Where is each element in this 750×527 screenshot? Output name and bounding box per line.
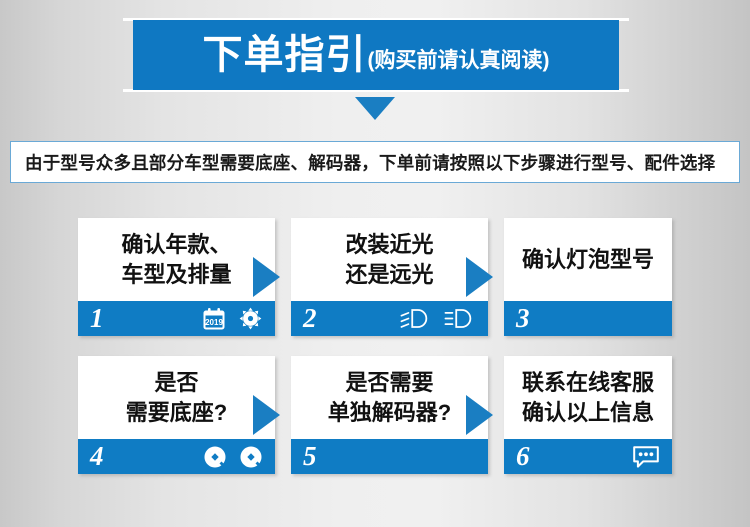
step-card-5[interactable]: 是否需要 单独解码器? 5 [291, 356, 488, 474]
page-title: 下单指引 [203, 35, 367, 75]
step-card-6-icons [632, 445, 660, 469]
gear-icon [238, 306, 263, 331]
step-card-4-line-1: 是否 [154, 368, 198, 398]
step-number-2: 2 [303, 305, 317, 332]
chevron-down-triangle-icon [355, 97, 395, 120]
step-card-4-footer: 4 [78, 439, 275, 474]
step-arrow-1-to-2 [253, 257, 280, 297]
step-card-grid: 确认年款、 车型及排量 1 2019 [0, 210, 750, 480]
step-card-6-footer: 6 [504, 439, 672, 474]
step-card-3-body: 确认灯泡型号 [504, 218, 672, 301]
notice-bar: 由于型号众多且部分车型需要底座、解码器，下单前请按照以下步骤进行型号、配件选择 [10, 141, 740, 183]
step-card-4-icons [203, 445, 263, 469]
step-number-6: 6 [516, 443, 530, 470]
step-card-6[interactable]: 联系在线客服 确认以上信息 6 [504, 356, 672, 474]
low-beam-headlight-icon [400, 308, 432, 329]
step-arrow-4-to-5 [253, 395, 280, 435]
step-number-1: 1 [90, 305, 104, 332]
step-card-1[interactable]: 确认年款、 车型及排量 1 2019 [78, 218, 275, 336]
step-number-5: 5 [303, 443, 317, 470]
svg-text:2019: 2019 [205, 318, 223, 327]
step-card-1-line-2: 车型及排量 [121, 260, 231, 290]
step-card-2-body: 改装近光 还是远光 [291, 218, 488, 301]
step-card-1-line-1: 确认年款、 [121, 230, 231, 260]
page-subtitle: (购买前请认真阅读) [368, 50, 550, 71]
step-card-6-line-2: 确认以上信息 [522, 398, 654, 428]
header-banner: 下单指引 (购买前请认真阅读) [0, 0, 750, 125]
step-number-4: 4 [90, 443, 104, 470]
step-card-1-footer: 1 2019 [78, 301, 275, 336]
header-title-box: 下单指引 (购买前请认真阅读) [133, 20, 619, 90]
bulb-adapter-base-icon [203, 445, 227, 469]
step-card-5-line-2: 单独解码器? [328, 398, 451, 428]
step-card-2-line-1: 改装近光 [345, 230, 433, 260]
step-card-4[interactable]: 是否 需要底座? 4 [78, 356, 275, 474]
notice-text: 由于型号众多且部分车型需要底座、解码器，下单前请按照以下步骤进行型号、配件选择 [25, 150, 715, 175]
chat-bubble-icon [632, 445, 660, 469]
step-card-3[interactable]: 确认灯泡型号 3 [504, 218, 672, 336]
high-beam-headlight-icon [444, 308, 476, 329]
step-card-1-icons: 2019 [202, 306, 263, 331]
calendar-icon: 2019 [202, 307, 226, 331]
step-number-3: 3 [516, 305, 530, 332]
step-arrow-5-to-6 [466, 395, 493, 435]
step-card-2[interactable]: 改装近光 还是远光 2 [291, 218, 488, 336]
step-card-4-body: 是否 需要底座? [78, 356, 275, 439]
step-card-2-icons [400, 308, 476, 329]
step-card-4-line-2: 需要底座? [126, 398, 227, 428]
bulb-adapter-base-icon [239, 445, 263, 469]
step-card-1-body: 确认年款、 车型及排量 [78, 218, 275, 301]
step-card-2-footer: 2 [291, 301, 488, 336]
step-card-5-body: 是否需要 单独解码器? [291, 356, 488, 439]
step-card-3-footer: 3 [504, 301, 672, 336]
step-card-5-line-1: 是否需要 [345, 368, 433, 398]
step-card-6-body: 联系在线客服 确认以上信息 [504, 356, 672, 439]
step-arrow-2-to-3 [466, 257, 493, 297]
step-card-2-line-2: 还是远光 [345, 260, 433, 290]
step-card-3-line-1: 确认灯泡型号 [522, 245, 654, 275]
step-card-6-line-1: 联系在线客服 [522, 368, 654, 398]
step-card-5-footer: 5 [291, 439, 488, 474]
